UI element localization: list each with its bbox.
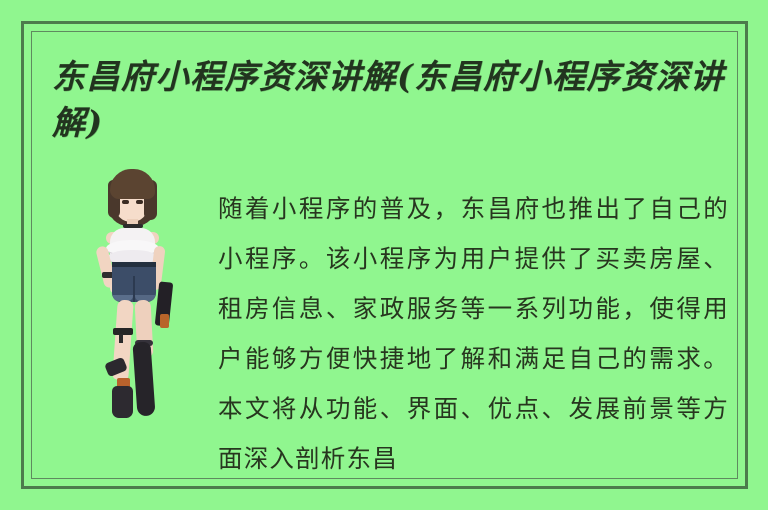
article-card: 东昌府小程序资深讲解(东昌府小程序资深讲解) [0, 0, 768, 510]
thigh-garter [113, 328, 133, 335]
waist-belt [112, 262, 156, 267]
card-content: 东昌府小程序资深讲解(东昌府小程序资深讲解) [32, 32, 737, 478]
eye-left [122, 200, 129, 204]
handbag-strap [160, 314, 169, 328]
eye-right [136, 200, 143, 204]
article-body: 随着小程序的普及，东昌府也推出了自己的小程序。该小程序为用户提供了买卖房屋、租房… [32, 164, 737, 478]
boot-left [112, 386, 133, 418]
hair-bangs [110, 169, 155, 199]
thigh-garter-buckle [119, 334, 123, 343]
anime-girl-illustration [70, 164, 190, 478]
article-paragraph: 随着小程序的普及，东昌府也推出了自己的小程序。该小程序为用户提供了买卖房屋、租房… [218, 184, 729, 478]
page-title: 东昌府小程序资深讲解(东昌府小程序资深讲解) [52, 54, 737, 146]
